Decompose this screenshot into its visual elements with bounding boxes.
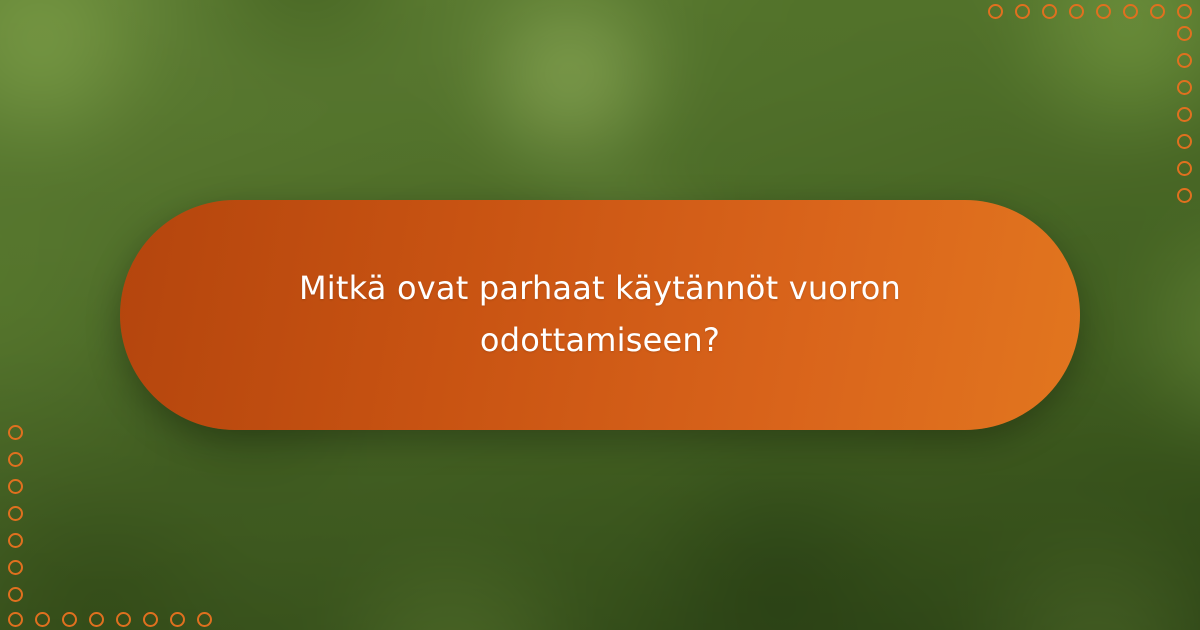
circle-icon: [1123, 4, 1138, 19]
circle-icon: [8, 506, 23, 521]
circle-icon: [1015, 4, 1030, 19]
page-title: Mitkä ovat parhaat käytännöt vuoron odot…: [250, 263, 950, 367]
circle-icon: [116, 612, 131, 627]
circle-icon: [8, 587, 23, 602]
circle-icon: [1150, 4, 1165, 19]
circle-icon: [8, 612, 23, 627]
circle-icon: [143, 612, 158, 627]
circle-icon: [8, 425, 23, 440]
circle-icon: [1177, 161, 1192, 176]
circle-icon: [197, 612, 212, 627]
circle-icon: [8, 533, 23, 548]
circle-icon: [1069, 4, 1084, 19]
circle-icon: [170, 612, 185, 627]
circle-icon: [8, 452, 23, 467]
poster-canvas: Mitkä ovat parhaat käytännöt vuoron odot…: [0, 0, 1200, 630]
circle-icon: [8, 560, 23, 575]
decorative-dots-bottom-left: [8, 612, 212, 627]
circle-icon: [1177, 80, 1192, 95]
circle-icon: [8, 479, 23, 494]
circle-icon: [89, 612, 104, 627]
circle-icon: [1177, 107, 1192, 122]
circle-icon: [1177, 4, 1192, 19]
headline-card: Mitkä ovat parhaat käytännöt vuoron odot…: [120, 200, 1080, 430]
circle-icon: [1177, 188, 1192, 203]
circle-icon: [988, 4, 1003, 19]
circle-icon: [35, 612, 50, 627]
circle-icon: [1096, 4, 1111, 19]
circle-icon: [62, 612, 77, 627]
decorative-dots-right-column: [1177, 26, 1192, 203]
circle-icon: [1042, 4, 1057, 19]
circle-icon: [1177, 53, 1192, 68]
decorative-dots-top-right: [988, 4, 1192, 19]
circle-icon: [1177, 26, 1192, 41]
decorative-dots-left-column: [8, 425, 23, 602]
circle-icon: [1177, 134, 1192, 149]
